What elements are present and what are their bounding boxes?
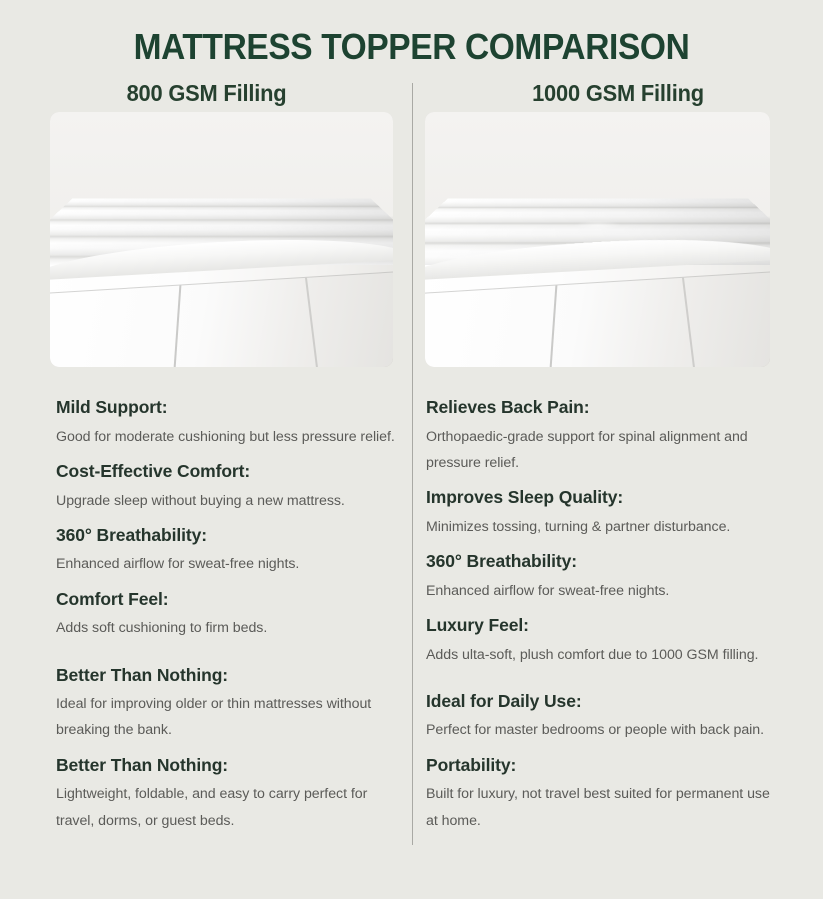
product-image-1000gsm [425, 112, 770, 367]
feature-title: Comfort Feel: [56, 588, 396, 612]
feature-description: Adds ulta-soft, plush comfort due to 100… [426, 642, 774, 668]
feature-item: 360° Breathability: Enhanced airflow for… [426, 550, 774, 604]
feature-description: Enhanced airflow for sweat-free nights. [56, 551, 396, 577]
column-divider [412, 83, 413, 845]
feature-description: Orthopaedic-grade support for spinal ali… [426, 424, 774, 477]
feature-title: Better Than Nothing: [56, 664, 396, 688]
feature-title: 360° Breathability: [426, 550, 774, 574]
feature-description: Lightweight, foldable, and easy to carry… [56, 781, 396, 834]
feature-item: Comfort Feel: Adds soft cushioning to fi… [56, 588, 396, 642]
feature-list-800gsm: Mild Support: Good for moderate cushioni… [56, 396, 396, 844]
feature-description: Good for moderate cushioning but less pr… [56, 424, 396, 450]
feature-title: Mild Support: [56, 396, 396, 420]
feature-description: Ideal for improving older or thin mattre… [56, 691, 396, 744]
feature-item: Better Than Nothing: Lightweight, foldab… [56, 754, 396, 834]
column-heading-1000gsm: 1000 GSM Filling [423, 80, 813, 107]
feature-item: Better Than Nothing: Ideal for improving… [56, 664, 396, 744]
feature-title: Portability: [426, 754, 774, 778]
feature-description: Enhanced airflow for sweat-free nights. [426, 578, 774, 604]
feature-title: Luxury Feel: [426, 614, 774, 638]
feature-title: Ideal for Daily Use: [426, 690, 774, 714]
feature-item: 360° Breathability: Enhanced airflow for… [56, 524, 396, 578]
feature-description: Built for luxury, not travel best suited… [426, 781, 774, 834]
column-heading-800gsm: 800 GSM Filling [10, 80, 402, 107]
feature-description: Minimizes tossing, turning & partner dis… [426, 514, 774, 540]
feature-title: Improves Sleep Quality: [426, 486, 774, 510]
feature-item: Mild Support: Good for moderate cushioni… [56, 396, 396, 450]
feature-item: Relieves Back Pain: Orthopaedic-grade su… [426, 396, 774, 476]
mattress-topper-illustration-1000gsm [425, 112, 770, 367]
feature-item: Ideal for Daily Use: Perfect for master … [426, 690, 774, 744]
feature-description: Perfect for master bedrooms or people wi… [426, 717, 774, 743]
feature-title: Cost-Effective Comfort: [56, 460, 396, 484]
feature-title: 360° Breathability: [56, 524, 396, 548]
feature-title: Relieves Back Pain: [426, 396, 774, 420]
feature-item: Cost-Effective Comfort: Upgrade sleep wi… [56, 460, 396, 514]
feature-item: Portability: Built for luxury, not trave… [426, 754, 774, 834]
feature-item: Luxury Feel: Adds ulta-soft, plush comfo… [426, 614, 774, 668]
product-image-800gsm [50, 112, 393, 367]
feature-description: Adds soft cushioning to firm beds. [56, 615, 396, 641]
feature-list-1000gsm: Relieves Back Pain: Orthopaedic-grade su… [426, 396, 774, 844]
comparison-infographic: MATTRESS TOPPER COMPARISON 800 GSM Filli… [0, 0, 823, 899]
feature-item: Improves Sleep Quality: Minimizes tossin… [426, 486, 774, 540]
feature-description: Upgrade sleep without buying a new mattr… [56, 488, 396, 514]
page-title: MATTRESS TOPPER COMPARISON [29, 26, 794, 68]
feature-title: Better Than Nothing: [56, 754, 396, 778]
mattress-topper-illustration-800gsm [50, 112, 393, 367]
